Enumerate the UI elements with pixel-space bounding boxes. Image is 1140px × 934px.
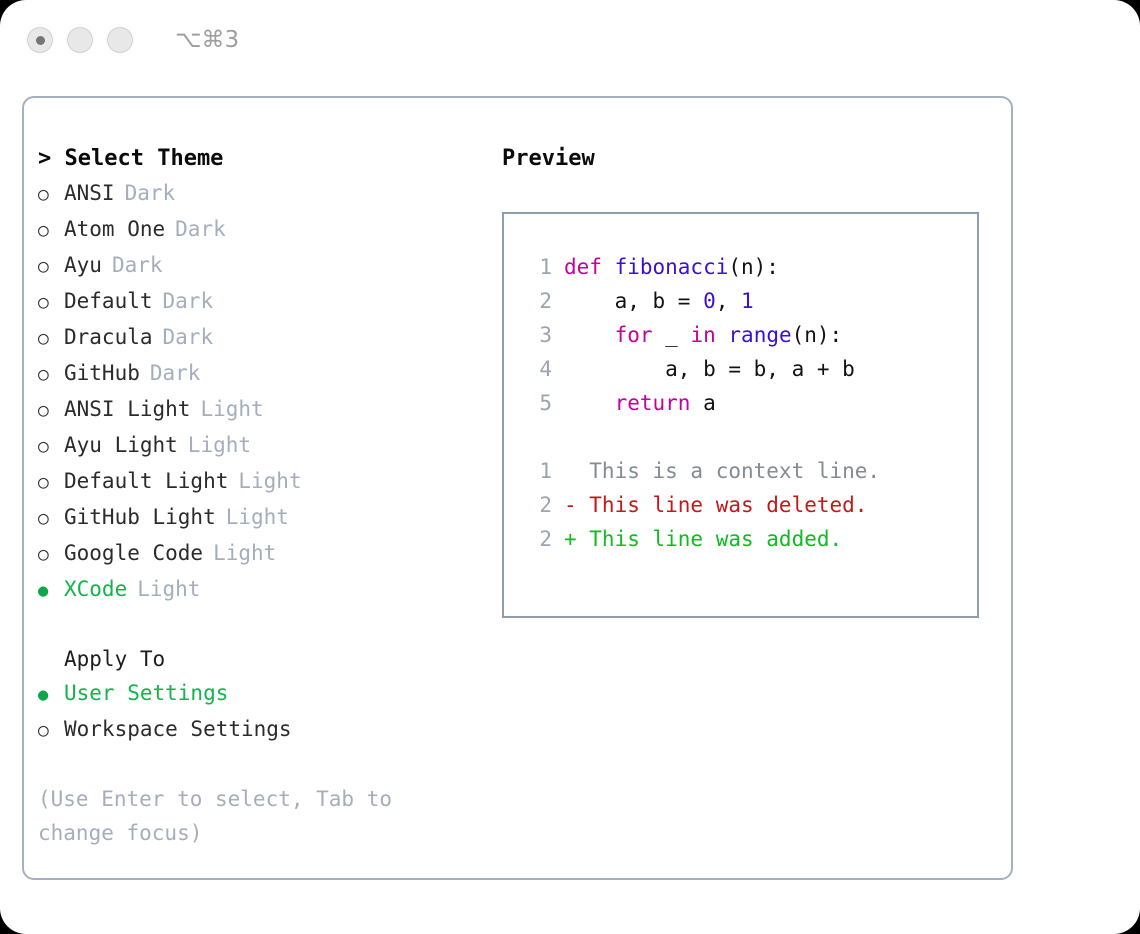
radio-unselected-icon: ○ bbox=[38, 322, 64, 356]
theme-kind-label: Dark bbox=[175, 212, 226, 246]
apply-to-option[interactable]: ●User Settings bbox=[38, 676, 488, 712]
theme-list-item[interactable]: ○Atom OneDark bbox=[38, 212, 488, 248]
code-line: 5 return a bbox=[518, 386, 977, 420]
main-panel: > Select Theme ○ANSIDark○Atom OneDark○Ay… bbox=[22, 96, 1013, 880]
line-content: a, b = 0, 1 bbox=[564, 284, 754, 318]
theme-name-label: XCode bbox=[64, 572, 127, 606]
radio-unselected-icon: ○ bbox=[38, 502, 64, 536]
theme-name-label: GitHub Light bbox=[64, 500, 216, 534]
theme-list-item[interactable]: ○DefaultDark bbox=[38, 284, 488, 320]
line-content: for _ in range(n): bbox=[564, 318, 842, 352]
code-line: 1def fibonacci(n): bbox=[518, 250, 977, 284]
code-line: 3 for _ in range(n): bbox=[518, 318, 977, 352]
code-line: 4 a, b = b, a + b bbox=[518, 352, 977, 386]
token-plain bbox=[716, 323, 729, 347]
theme-list[interactable]: ○ANSIDark○Atom OneDark○AyuDark○DefaultDa… bbox=[38, 176, 488, 608]
line-content: + This line was added. bbox=[564, 522, 842, 556]
radio-unselected-icon: ○ bbox=[38, 394, 64, 428]
token-ctx: This is a context line. bbox=[564, 459, 880, 483]
line-number: 4 bbox=[518, 352, 552, 386]
apply-to-option[interactable]: ○Workspace Settings bbox=[38, 712, 488, 748]
code-sample: 1def fibonacci(n):2 a, b = 0, 13 for _ i… bbox=[518, 250, 977, 420]
apply-to-option-label: Workspace Settings bbox=[64, 712, 292, 746]
theme-list-item[interactable]: ●XCodeLight bbox=[38, 572, 488, 608]
line-content: def fibonacci(n): bbox=[564, 250, 779, 284]
diff-line: 2+ This line was added. bbox=[518, 522, 977, 556]
title-bar: ⌥⌘3 bbox=[0, 0, 1140, 80]
theme-kind-label: Dark bbox=[163, 320, 214, 354]
line-number: 1 bbox=[518, 250, 552, 284]
theme-kind-label: Dark bbox=[125, 176, 176, 210]
token-plain: _ bbox=[653, 323, 691, 347]
radio-selected-icon: ● bbox=[38, 678, 64, 712]
keyboard-hint-text: (Use Enter to select, Tab to change focu… bbox=[38, 782, 448, 850]
line-number: 3 bbox=[518, 318, 552, 352]
apply-to-group: Apply To ●User Settings○Workspace Settin… bbox=[38, 642, 488, 748]
theme-list-item[interactable]: ○GitHubDark bbox=[38, 356, 488, 392]
theme-kind-label: Light bbox=[188, 428, 251, 462]
line-number: 1 bbox=[518, 454, 552, 488]
theme-name-label: Default bbox=[64, 284, 153, 318]
theme-kind-label: Light bbox=[200, 392, 263, 426]
diff-sample: 1 This is a context line.2- This line wa… bbox=[518, 454, 977, 556]
preview-column: Preview 1def fibonacci(n):2 a, b = 0, 13… bbox=[502, 142, 1002, 618]
line-number: 5 bbox=[518, 386, 552, 420]
theme-kind-label: Dark bbox=[112, 248, 163, 282]
token-plain: , bbox=[716, 289, 741, 313]
apply-to-heading: Apply To bbox=[38, 642, 488, 676]
window-controls bbox=[27, 27, 147, 53]
theme-name-label: ANSI bbox=[64, 176, 115, 210]
line-number: 2 bbox=[518, 522, 552, 556]
radio-unselected-icon: ○ bbox=[38, 286, 64, 320]
preview-box: 1def fibonacci(n):2 a, b = 0, 13 for _ i… bbox=[502, 212, 979, 618]
theme-kind-label: Dark bbox=[163, 284, 214, 318]
theme-name-label: Ayu Light bbox=[64, 428, 178, 462]
line-content: return a bbox=[564, 386, 716, 420]
diff-line: 2- This line was deleted. bbox=[518, 488, 977, 522]
theme-kind-label: Light bbox=[213, 536, 276, 570]
theme-list-item[interactable]: ○ANSIDark bbox=[38, 176, 488, 212]
line-number: 2 bbox=[518, 284, 552, 318]
theme-kind-label: Dark bbox=[150, 356, 201, 390]
theme-name-label: GitHub bbox=[64, 356, 140, 390]
theme-name-label: Ayu bbox=[64, 248, 102, 282]
token-plain bbox=[564, 323, 615, 347]
radio-unselected-icon: ○ bbox=[38, 538, 64, 572]
token-kw: return bbox=[615, 391, 691, 415]
token-plain: (n): bbox=[792, 323, 843, 347]
theme-list-item[interactable]: ○Default LightLight bbox=[38, 464, 488, 500]
apply-to-option-label: User Settings bbox=[64, 676, 228, 710]
line-number: 2 bbox=[518, 488, 552, 522]
radio-selected-icon: ● bbox=[38, 574, 64, 608]
window-dot-fill-icon bbox=[36, 36, 45, 45]
radio-unselected-icon: ○ bbox=[38, 358, 64, 392]
theme-kind-label: Light bbox=[238, 464, 301, 498]
apply-to-options[interactable]: ●User Settings○Workspace Settings bbox=[38, 676, 488, 748]
theme-picker-column: > Select Theme ○ANSIDark○Atom OneDark○Ay… bbox=[38, 142, 488, 850]
token-kw: in bbox=[690, 323, 715, 347]
line-content: - This line was deleted. bbox=[564, 488, 867, 522]
token-plain: a bbox=[690, 391, 715, 415]
theme-list-item[interactable]: ○AyuDark bbox=[38, 248, 488, 284]
preview-heading: Preview bbox=[502, 142, 1002, 176]
token-plain: (n): bbox=[728, 255, 779, 279]
token-plain: a, b = bbox=[564, 289, 703, 313]
radio-unselected-icon: ○ bbox=[38, 466, 64, 500]
line-content: This is a context line. bbox=[564, 454, 880, 488]
theme-list-item[interactable]: ○Google CodeLight bbox=[38, 536, 488, 572]
code-line: 2 a, b = 0, 1 bbox=[518, 284, 977, 318]
theme-list-item[interactable]: ○Ayu LightLight bbox=[38, 428, 488, 464]
radio-unselected-icon: ○ bbox=[38, 214, 64, 248]
window-dot-active[interactable] bbox=[27, 27, 53, 53]
token-add: + This line was added. bbox=[564, 527, 842, 551]
theme-list-item[interactable]: ○ANSI LightLight bbox=[38, 392, 488, 428]
token-num: 1 bbox=[741, 289, 754, 313]
token-kw: def bbox=[564, 255, 615, 279]
token-fn: range bbox=[728, 323, 791, 347]
theme-name-label: Dracula bbox=[64, 320, 153, 354]
theme-name-label: ANSI Light bbox=[64, 392, 190, 426]
select-theme-heading: > Select Theme bbox=[38, 142, 488, 176]
token-fn: fibonacci bbox=[615, 255, 729, 279]
diff-line: 1 This is a context line. bbox=[518, 454, 977, 488]
radio-unselected-icon: ○ bbox=[38, 250, 64, 284]
theme-kind-label: Light bbox=[137, 572, 200, 606]
radio-unselected-icon: ○ bbox=[38, 714, 64, 748]
radio-unselected-icon: ○ bbox=[38, 430, 64, 464]
token-del: - This line was deleted. bbox=[564, 493, 867, 517]
theme-name-label: Default Light bbox=[64, 464, 228, 498]
line-content: a, b = b, a + b bbox=[564, 352, 855, 386]
theme-kind-label: Light bbox=[226, 500, 289, 534]
theme-name-label: Google Code bbox=[64, 536, 203, 570]
token-plain: a, b = b, a + b bbox=[564, 357, 855, 381]
token-kw: for bbox=[615, 323, 653, 347]
window-dot-three[interactable] bbox=[107, 27, 133, 53]
token-num: 0 bbox=[703, 289, 716, 313]
app-root: ⌥⌘3 > Select Theme ○ANSIDark○Atom OneDar… bbox=[0, 0, 1140, 934]
theme-list-item[interactable]: ○DraculaDark bbox=[38, 320, 488, 356]
radio-unselected-icon: ○ bbox=[38, 178, 64, 212]
theme-list-item[interactable]: ○GitHub LightLight bbox=[38, 500, 488, 536]
code-diff-separator bbox=[518, 420, 977, 454]
token-plain bbox=[564, 391, 615, 415]
theme-name-label: Atom One bbox=[64, 212, 165, 246]
window-dot-two[interactable] bbox=[67, 27, 93, 53]
window-shortcut-label: ⌥⌘3 bbox=[175, 27, 239, 53]
